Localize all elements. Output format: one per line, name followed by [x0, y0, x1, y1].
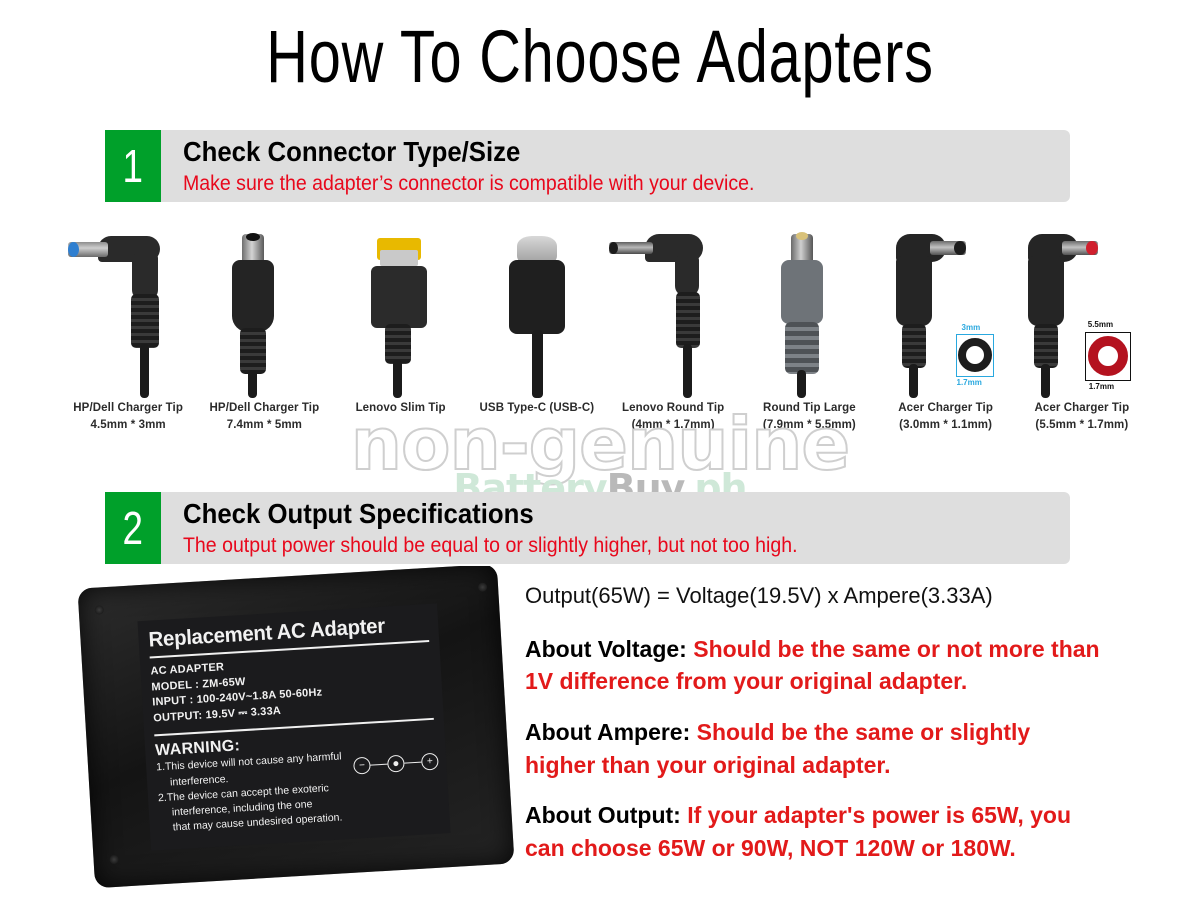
connector-item-lenovo-slim: Lenovo Slim Tip: [333, 228, 469, 443]
acer-55-outer-size: 5.5mm: [1088, 320, 1113, 329]
step-1-number-badge: 1: [105, 130, 161, 202]
acer-30-outer-size: 3mm: [962, 323, 981, 332]
polarity-center: [387, 755, 405, 773]
connector-item-hp-dell-45: HP/Dell Charger Tip 4.5mm * 3mm: [60, 228, 196, 443]
connector-item-hp-dell-74: HP/Dell Charger Tip 7.4mm * 5mm: [196, 228, 332, 443]
adapter-spec-label: Replacement AC Adapter AC ADAPTER MODEL …: [138, 603, 451, 850]
polarity-minus: −: [353, 757, 371, 775]
adapter-body: Replacement AC Adapter AC ADAPTER MODEL …: [78, 566, 515, 888]
step-2-number: 2: [123, 505, 143, 551]
connector-item-usb-c: USB Type-C (USB-C): [469, 228, 605, 443]
lenovo-slim-tip-icon: [333, 228, 469, 398]
step-1-text-block: Check Connector Type/Size Make sure the …: [161, 130, 1070, 202]
acer-55-inner-size: 1.7mm: [1089, 382, 1114, 391]
acer-30-callout: 3mm 1.7mm: [944, 320, 1010, 390]
step-1-subheading: Make sure the adapter’s connector is com…: [183, 171, 1008, 196]
ac-adapter-photo: Replacement AC Adapter AC ADAPTER MODEL …: [78, 566, 518, 896]
connector-label: Acer Charger Tip (3.0mm * 1.1mm): [898, 400, 993, 433]
connector-item-acer-55: 5.5mm 1.7mm Acer Charger Tip (5.5mm * 1.…: [1014, 228, 1150, 443]
step-2-banner: 2 Check Output Specifications The output…: [105, 492, 1070, 564]
spec-about-ampere-label: About Ampere:: [525, 719, 690, 745]
acer-tip-30mm-icon: 3mm 1.7mm: [878, 228, 1014, 398]
lenovo-round-tip-icon: [605, 228, 741, 398]
step-1-banner: 1 Check Connector Type/Size Make sure th…: [105, 130, 1070, 202]
connector-label: HP/Dell Charger Tip 7.4mm * 5mm: [210, 400, 320, 433]
spec-about-ampere: About Ampere: Should be the same or slig…: [525, 716, 1100, 781]
output-formula: Output(65W) = Voltage(19.5V) x Ampere(3.…: [525, 582, 1100, 611]
connector-label: Round Tip Large (7.9mm * 5.5mm): [763, 400, 856, 433]
step-2-number-badge: 2: [105, 492, 161, 564]
connector-label: Acer Charger Tip (5.5mm * 1.7mm): [1035, 400, 1130, 433]
connector-item-acer-30: 3mm 1.7mm Acer Charger Tip (3.0mm * 1.1m…: [878, 228, 1014, 443]
connector-item-round-large: Round Tip Large (7.9mm * 5.5mm): [741, 228, 877, 443]
infographic-page: How To Choose Adapters 1 Check Connector…: [0, 0, 1200, 900]
connector-item-lenovo-round: Lenovo Round Tip (4mm * 1.7mm): [605, 228, 741, 443]
acer-55-callout: 5.5mm 1.7mm: [1072, 316, 1148, 396]
output-specifications-text: Output(65W) = Voltage(19.5V) x Ampere(3.…: [525, 582, 1100, 883]
hp-dell-barrel-tip-icon: [196, 228, 332, 398]
spec-about-output-label: About Output:: [525, 802, 681, 828]
hp-dell-blue-tip-icon: [60, 228, 196, 398]
spec-about-output: About Output: If your adapter's power is…: [525, 799, 1100, 864]
connector-label: USB Type-C (USB-C): [480, 400, 595, 417]
round-tip-large-icon: [741, 228, 877, 398]
connector-gallery: HP/Dell Charger Tip 4.5mm * 3mm HP/Dell …: [60, 228, 1150, 443]
acer-tip-55mm-icon: 5.5mm 1.7mm: [1014, 228, 1150, 398]
spec-about-voltage-label: About Voltage:: [525, 636, 687, 662]
connector-label: Lenovo Slim Tip: [356, 400, 446, 417]
step-1-heading: Check Connector Type/Size: [183, 136, 999, 168]
connector-label: Lenovo Round Tip (4mm * 1.7mm): [622, 400, 724, 433]
step-1-number: 1: [123, 143, 143, 189]
adapter-label-title: Replacement AC Adapter: [148, 613, 421, 653]
page-title: How To Choose Adapters: [132, 14, 1068, 99]
spec-about-voltage: About Voltage: Should be the same or not…: [525, 633, 1100, 698]
polarity-plus: +: [421, 753, 439, 771]
connector-label: HP/Dell Charger Tip 4.5mm * 3mm: [73, 400, 183, 433]
acer-30-inner-size: 1.7mm: [957, 378, 982, 387]
step-2-text-block: Check Output Specifications The output p…: [161, 492, 1070, 564]
step-2-subheading: The output power should be equal to or s…: [183, 533, 1008, 558]
step-2-heading: Check Output Specifications: [183, 498, 999, 530]
usb-type-c-icon: [469, 228, 605, 398]
